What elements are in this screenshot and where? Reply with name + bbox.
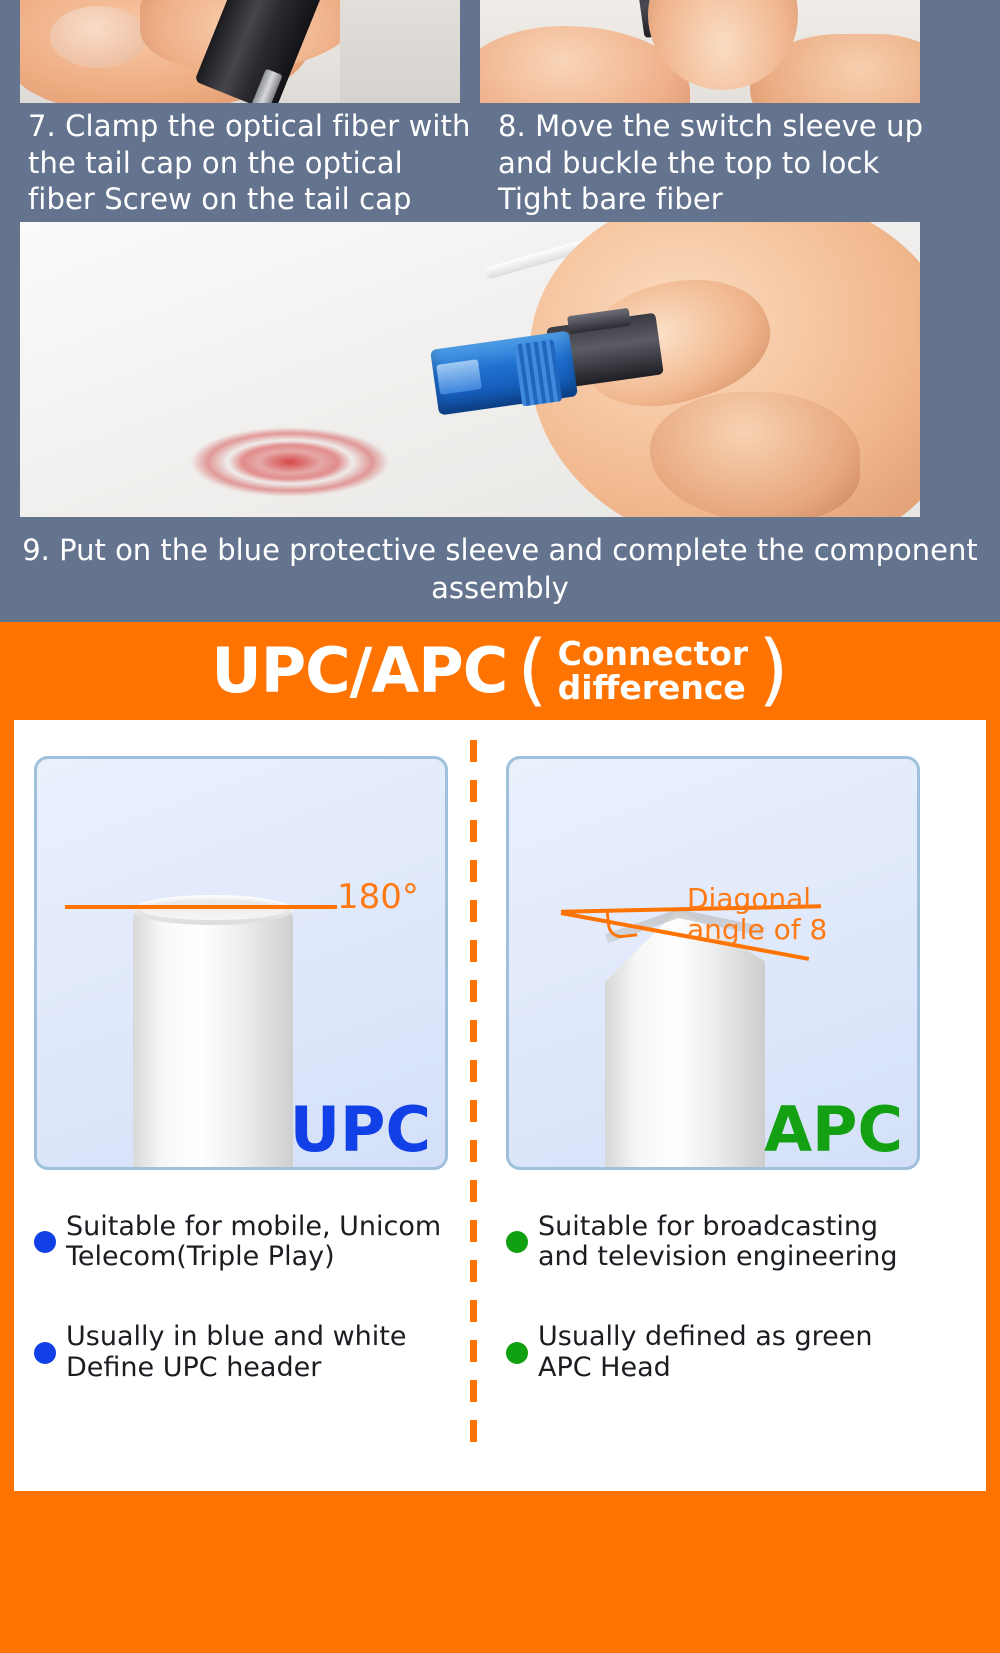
list-item: Suitable for mobile, Unicom Telecom(Trip… (34, 1212, 484, 1272)
bullet-text: Usually defined as green APC Head (538, 1322, 956, 1382)
bullet-dot-icon (34, 1342, 56, 1364)
bullet-dot-icon (34, 1231, 56, 1253)
left-orange-rail (0, 720, 14, 1505)
paren-open: ( (517, 639, 547, 703)
step8-caption: 8. Move the switch sleeve up and buckle … (498, 108, 938, 218)
banner-subtitle-line2: difference (558, 671, 749, 705)
banner-subtitle-line1: Connector (558, 637, 749, 671)
right-orange-rail (986, 720, 1000, 1505)
banner-subtitle: Connector difference (558, 637, 749, 706)
step7-photo (20, 0, 460, 103)
upc-angle-line (65, 905, 337, 909)
bullet-text: Usually in blue and white Define UPC hea… (66, 1322, 406, 1382)
bullet-text: Suitable for mobile, Unicom Telecom(Trip… (66, 1212, 441, 1272)
connector-grip-ribs (514, 340, 562, 407)
list-item: Suitable for broadcasting and television… (506, 1212, 956, 1272)
photo-backdrop (340, 0, 460, 103)
step8-photo (480, 0, 920, 103)
upc-ferrule (133, 909, 293, 1170)
step9-photo (20, 222, 920, 517)
product-infographic: 7. Clamp the optical fiber with the tail… (0, 0, 1000, 1653)
banner-title: UPC/APC (211, 640, 507, 702)
upc-angle-label: 180° (337, 877, 419, 917)
list-item: Usually in blue and white Define UPC hea… (34, 1322, 484, 1382)
upc-card: 180° UPC (34, 756, 448, 1170)
red-laser-ring (190, 427, 390, 497)
upc-tag: UPC (290, 1099, 431, 1161)
apc-card: Diagonal angle of 8 APC (506, 756, 920, 1170)
step-photo-row (20, 0, 920, 103)
section-banner: UPC/APC ( Connector difference ) (0, 622, 1000, 720)
upc-end-face-inner (141, 900, 285, 920)
apc-angle-label: Diagonal angle of 8 (687, 883, 857, 946)
list-item: Usually defined as green APC Head (506, 1322, 956, 1382)
bullet-text: Suitable for broadcasting and television… (538, 1212, 956, 1272)
bullet-dot-icon (506, 1231, 528, 1253)
bullet-dot-icon (506, 1342, 528, 1364)
apc-bullet-list: Suitable for broadcasting and television… (506, 1212, 956, 1433)
connector-ferrule-tip (436, 359, 482, 395)
fingernail-shape (50, 6, 146, 68)
assembly-steps-section: 7. Clamp the optical fiber with the tail… (0, 0, 1000, 622)
banner-content: UPC/APC ( Connector difference ) (0, 622, 1000, 720)
bottom-orange-band (0, 1491, 1000, 1653)
step9-caption: 9. Put on the blue protective sleeve and… (0, 532, 1000, 607)
knuckle-shape (650, 392, 860, 517)
paren-close: ) (758, 639, 788, 703)
upc-bullet-list: Suitable for mobile, Unicom Telecom(Trip… (34, 1212, 484, 1433)
step7-caption: 7. Clamp the optical fiber with the tail… (28, 108, 478, 218)
apc-tag: APC (764, 1099, 903, 1161)
